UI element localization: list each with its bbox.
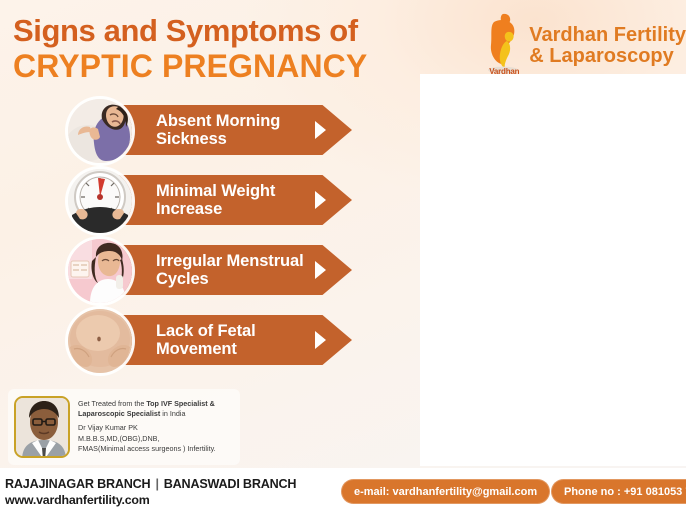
brand-name: Vardhan Fertility & Laparoscopy (529, 23, 686, 67)
brand-name-line-2: & Laparoscopy (529, 46, 686, 67)
list-item[interactable]: Absent Morning Sickness (68, 97, 368, 164)
symptom-label: Lack of Fetal Movement (156, 322, 318, 359)
tagline-suffix: in India (160, 409, 185, 418)
headline-line-1: Signs and Symptoms of (13, 14, 453, 47)
chevron-right-icon (315, 261, 326, 279)
website-link[interactable]: www.vardhanfertility.com (5, 493, 296, 507)
symptom-banner[interactable]: Absent Morning Sickness (106, 105, 352, 155)
doctor-tagline: Get Treated from the Top IVF Specialist … (78, 399, 234, 420)
symptom-banner[interactable]: Minimal Weight Increase (106, 175, 352, 225)
brand-name-line-1: Vardhan Fertility (529, 25, 686, 46)
chevron-right-icon (315, 331, 326, 349)
doctor-name: Dr Vijay Kumar PK (78, 423, 234, 434)
symptom-label: Irregular Menstrual Cycles (156, 252, 318, 289)
footer-branches: RAJAJINAGAR BRANCH|BANASWADI BRANCH www.… (0, 477, 296, 507)
branch-banaswadi: BANASWADI BRANCH (164, 477, 297, 491)
pregnant-woman-headache-photo (420, 74, 686, 466)
doctor-portrait-photo (14, 396, 70, 458)
footer-bar: RAJAJINAGAR BRANCH|BANASWADI BRANCH www.… (0, 468, 686, 515)
list-item[interactable]: Minimal Weight Increase (68, 167, 368, 234)
symptom-label: Minimal Weight Increase (156, 182, 318, 219)
branch-rajajinagar: RAJAJINAGAR BRANCH (5, 477, 150, 491)
doctor-details: Get Treated from the Top IVF Specialist … (78, 399, 234, 455)
list-item[interactable]: Lack of Fetal Movement (68, 307, 368, 374)
pregnant-belly-hands-photo (68, 309, 132, 373)
woman-with-calendar-photo (68, 239, 132, 303)
pregnant-woman-nausea-photo (68, 99, 132, 163)
chevron-right-icon (315, 121, 326, 139)
symptom-banner[interactable]: Irregular Menstrual Cycles (106, 245, 352, 295)
page-title: Signs and Symptoms of CRYPTIC PREGNANCY (13, 14, 453, 84)
symptom-list: Absent Morning Sickness (68, 97, 368, 377)
chevron-right-icon (315, 191, 326, 209)
branch-separator: | (150, 477, 163, 491)
brand-logo: Vardhan FERTILITY CENTRE Vardhan Fertili… (481, 8, 686, 82)
doctor-credential-card: Get Treated from the Top IVF Specialist … (8, 389, 240, 465)
email-pill[interactable]: e-mail: vardhanfertility@gmail.com (341, 479, 550, 504)
symptom-label: Absent Morning Sickness (156, 112, 318, 149)
doctor-qualification-line-1: M.B.B.S,MD,(OBG),DNB, (78, 434, 234, 445)
headline-line-2: CRYPTIC PREGNANCY (13, 49, 453, 84)
weighing-scale-photo (68, 169, 132, 233)
infographic-poster: Signs and Symptoms of CRYPTIC PREGNANCY … (0, 0, 686, 515)
tagline-prefix: Get Treated from the (78, 399, 146, 408)
list-item[interactable]: Irregular Menstrual Cycles (68, 237, 368, 304)
symptom-banner[interactable]: Lack of Fetal Movement (106, 315, 352, 365)
doctor-qualification-line-2: FMAS(Minimal access surgeons ) Infertili… (78, 444, 234, 455)
phone-pill[interactable]: Phone no : +91 081053 75 (551, 479, 686, 504)
mother-child-logo-icon: Vardhan FERTILITY CENTRE (481, 8, 525, 82)
